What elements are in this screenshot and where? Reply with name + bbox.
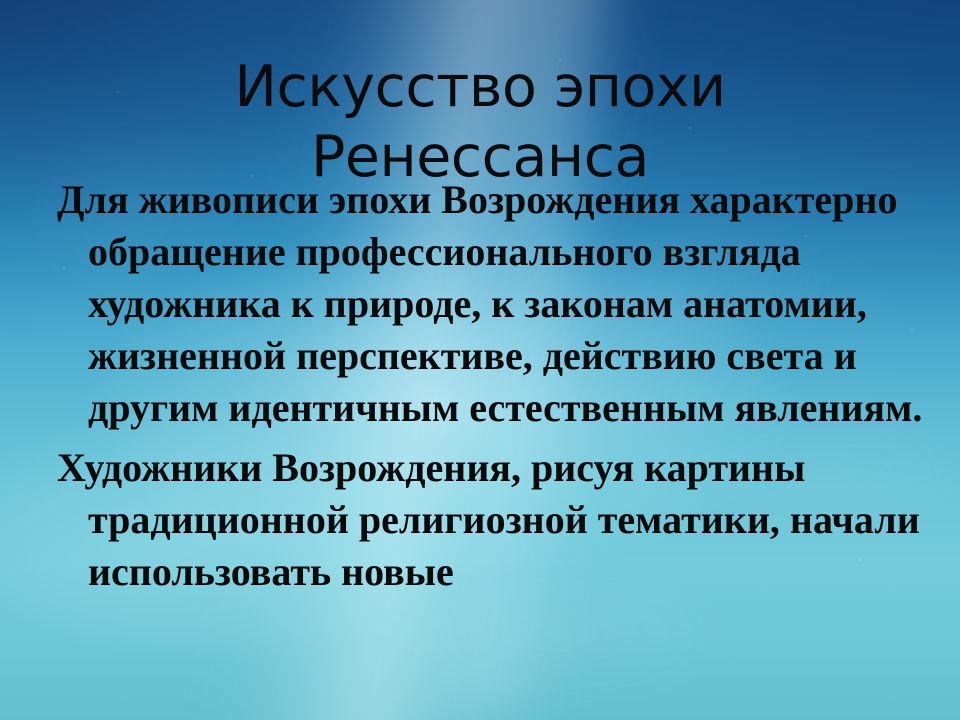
slide-title: Искусство эпохи Ренессанса bbox=[0, 52, 960, 192]
slide-content: Искусство эпохи Ренессанса Для живописи … bbox=[0, 0, 960, 720]
slide-body: Для живописи эпохи Возрождения характерн… bbox=[0, 174, 960, 598]
presentation-slide: Искусство эпохи Ренессанса Для живописи … bbox=[0, 0, 960, 720]
body-paragraph-1: Для живописи эпохи Возрождения характерн… bbox=[0, 174, 960, 434]
body-paragraph-2: Художники Возрождения, рисуя картины тра… bbox=[0, 442, 960, 598]
